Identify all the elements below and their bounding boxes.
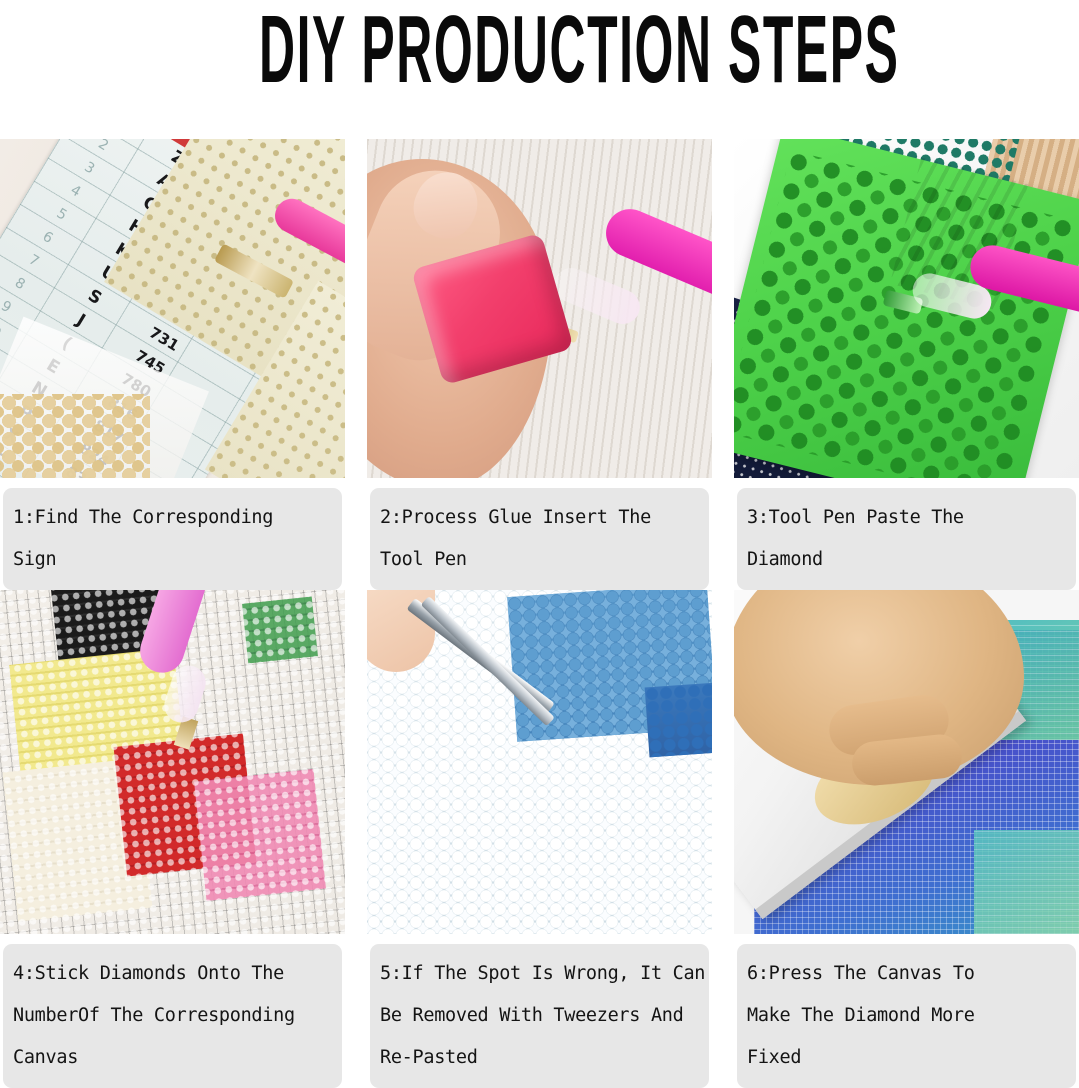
step-card-1: 1 2 3 4 5 6 7 8 9 10 11 12 13 14 bbox=[0, 139, 345, 590]
press-canvas-photo bbox=[734, 590, 1079, 934]
photo6-teal-canvas-area-lower bbox=[974, 830, 1079, 934]
step-card-2: 2:Process Glue Insert The Tool Pen bbox=[367, 139, 712, 590]
tweezers-correction-photo bbox=[367, 590, 712, 934]
colorful-canvas-placement-photo bbox=[0, 590, 345, 934]
photo1-loose-drills bbox=[0, 394, 150, 478]
step-card-5: 5:If The Spot Is Wrong, It Can Be Remove… bbox=[367, 590, 712, 1088]
step-caption-2: 2:Process Glue Insert The Tool Pen bbox=[370, 488, 709, 590]
green-tray-pickup-photo bbox=[734, 139, 1079, 478]
steps-row-bottom: 4:Stick Diamonds Onto The NumberOf The C… bbox=[0, 590, 1079, 1088]
step-caption-3: 3:Tool Pen Paste The Diamond bbox=[737, 488, 1076, 590]
step-caption-4: 4:Stick Diamonds Onto The NumberOf The C… bbox=[3, 944, 342, 1088]
photo5-dark-blue-drill-patch bbox=[645, 683, 712, 758]
page-title: DIY PRODUCTION STEPS bbox=[259, 2, 820, 98]
step-caption-5: 5:If The Spot Is Wrong, It Can Be Remove… bbox=[370, 944, 709, 1088]
glue-clay-and-tool-pen-photo bbox=[367, 139, 712, 478]
color-chart-and-drills-photo: 1 2 3 4 5 6 7 8 9 10 11 12 13 14 bbox=[0, 139, 345, 478]
steps-grid: 1 2 3 4 5 6 7 8 9 10 11 12 13 14 bbox=[0, 139, 1079, 1088]
step-caption-6: 6:Press The Canvas To Make The Diamond M… bbox=[737, 944, 1076, 1088]
step-card-6: 6:Press The Canvas To Make The Diamond M… bbox=[734, 590, 1079, 1088]
step-caption-1: 1:Find The Corresponding Sign bbox=[3, 488, 342, 590]
step-card-3: 3:Tool Pen Paste The Diamond bbox=[734, 139, 1079, 590]
step-card-4: 4:Stick Diamonds Onto The NumberOf The C… bbox=[0, 590, 345, 1088]
steps-row-top: 1 2 3 4 5 6 7 8 9 10 11 12 13 14 bbox=[0, 139, 1079, 590]
